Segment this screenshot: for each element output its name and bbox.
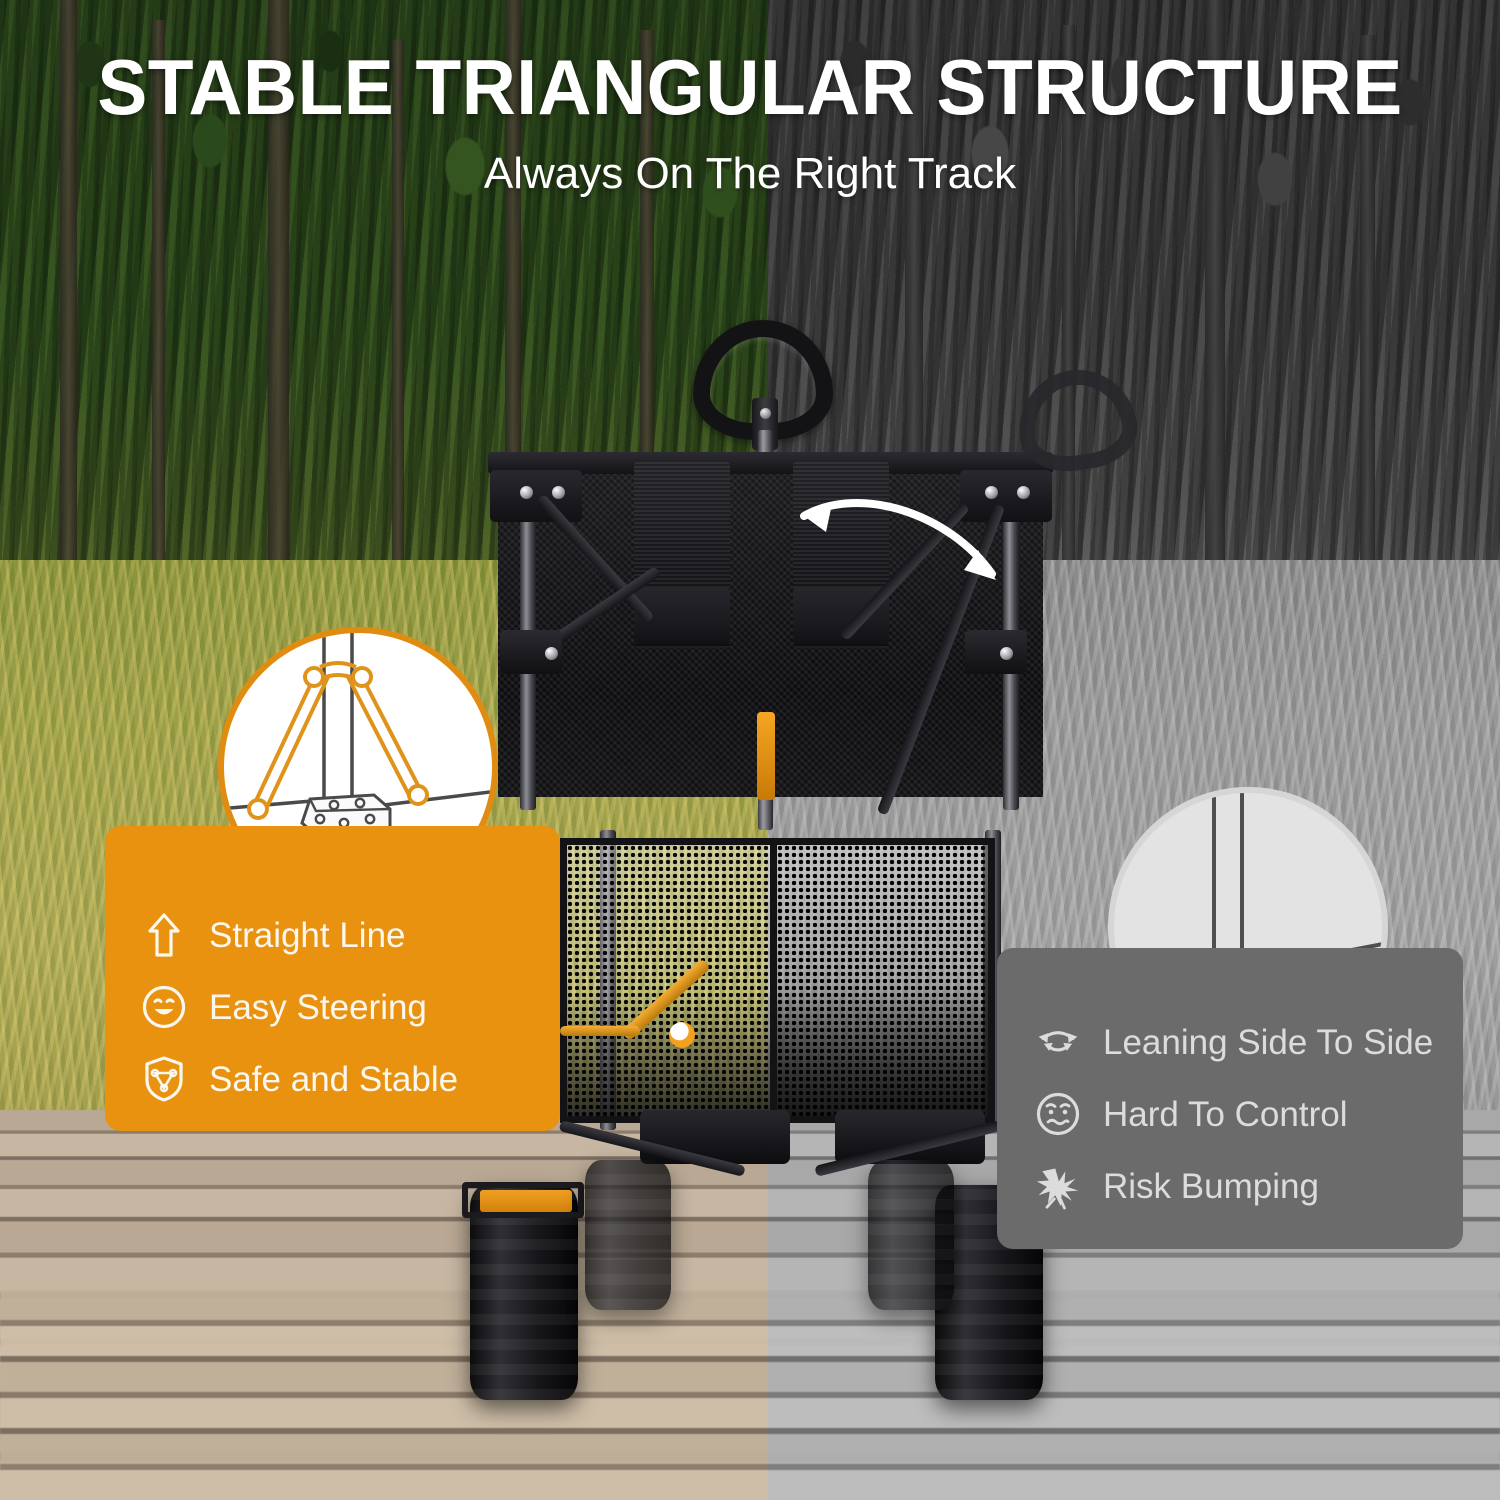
shield-triangle-icon <box>141 1056 187 1102</box>
drawback-label: Risk Bumping <box>1103 1169 1319 1204</box>
worried-face-icon <box>1035 1091 1081 1137</box>
benefits-list: Straight Line Easy Steering <box>105 826 560 1131</box>
drawback-item-hard-to-control: Hard To Control <box>1035 1088 1347 1140</box>
bracket-rivet-1 <box>520 486 533 499</box>
bracket-rivet-2 <box>552 486 565 499</box>
drawbacks-panel: Leaning Side To Side Hard To Control <box>997 948 1463 1249</box>
drawbacks-list: Leaning Side To Side Hard To Control <box>997 948 1463 1249</box>
sway-double-arrow-icon <box>770 470 1030 610</box>
page-title: STABLE TRIANGULAR STRUCTURE <box>30 48 1470 126</box>
side-to-side-arrows-icon <box>1035 1019 1081 1065</box>
benefit-item-safe-stable: Safe and Stable <box>141 1053 458 1105</box>
highlighted-brace-horizontal <box>560 1026 640 1036</box>
product-feature-graphic: STABLE TRIANGULAR STRUCTURE Always On Th… <box>0 0 1500 1500</box>
benefit-label: Straight Line <box>209 918 406 953</box>
handle-rivet-upper <box>760 408 771 419</box>
benefit-item-easy-steering: Easy Steering <box>141 981 427 1033</box>
benefit-label: Easy Steering <box>209 990 427 1025</box>
drawback-item-leaning: Leaning Side To Side <box>1035 1016 1433 1068</box>
drawback-label: Leaning Side To Side <box>1103 1025 1433 1060</box>
drawback-label: Hard To Control <box>1103 1097 1347 1132</box>
handle-release-lever[interactable] <box>757 712 775 800</box>
clamp-rivet-right <box>1000 647 1013 660</box>
brace-clamp-right <box>965 630 1027 674</box>
benefit-item-straight-line: Straight Line <box>141 909 406 961</box>
up-arrow-icon <box>141 912 187 958</box>
burst-impact-icon <box>1035 1163 1081 1209</box>
highlighted-brace-pivot <box>669 1022 695 1048</box>
wheel-release-tab-left[interactable] <box>480 1190 572 1212</box>
corner-bracket-top-left <box>490 470 582 522</box>
page-subtitle: Always On The Right Track <box>0 152 1500 196</box>
wheel-rear-right <box>868 1160 954 1310</box>
benefit-label: Safe and Stable <box>209 1062 458 1097</box>
wheel-rear-left <box>585 1160 671 1310</box>
drawback-item-risk-bumping: Risk Bumping <box>1035 1160 1319 1212</box>
clamp-rivet-left <box>545 647 558 660</box>
smiley-face-icon <box>141 984 187 1030</box>
mesh-cargo-panel-right <box>770 838 995 1123</box>
benefits-panel: Straight Line Easy Steering <box>105 826 560 1131</box>
